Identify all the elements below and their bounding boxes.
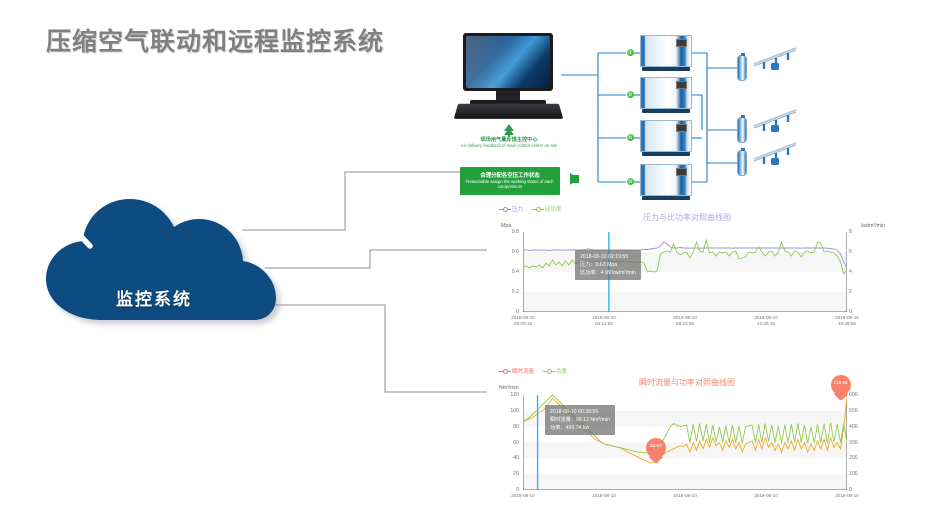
tooltip-time: 2018-08-10 02:19:55 xyxy=(580,253,636,261)
y-tick: 60 xyxy=(499,440,519,446)
chart2-value-marker[interactable]: 33.87 xyxy=(646,438,666,464)
air-tank xyxy=(737,117,747,143)
x-tick: 2018-08-10 xyxy=(579,493,629,499)
chart2-legend[interactable]: 瞬时流量功率 xyxy=(499,367,576,375)
y-tick: 0.4 xyxy=(499,269,519,275)
chart-flow-vs-power: 瞬时流量功率 瞬时流量与功率对照曲线图 Nm³/min 120100806040… xyxy=(487,365,887,525)
marker-value: 118.55 xyxy=(831,381,851,386)
compressor-foot xyxy=(642,109,690,113)
y-tick: 0.6 xyxy=(499,249,519,255)
x-tick: 2018-08-1004:11:55 xyxy=(579,315,629,326)
tooltip-line-2: 功率：493.74 kw xyxy=(550,424,610,432)
y-tick: 500 xyxy=(849,408,869,414)
compressor-unit xyxy=(640,35,692,71)
chart1-tooltip: 2018-08-10 02:19:55压力：0.63 Mpa比功率：4.99 k… xyxy=(575,250,641,280)
magnifier-chart-icon xyxy=(40,195,102,257)
x-tick: 2018-08-10 xyxy=(822,493,872,499)
y-tick: 80 xyxy=(499,424,519,430)
compressor-panel xyxy=(676,81,687,89)
compressor-unit xyxy=(640,77,692,113)
legend-marker-icon xyxy=(499,368,511,374)
air-tank xyxy=(737,55,747,81)
y-tick: 6 xyxy=(849,249,869,255)
chart1-plot-area[interactable] xyxy=(523,232,847,312)
legend-label: 瞬时流量 xyxy=(512,369,534,375)
tooltip-line-2: 比功率：4.99 kw/m³/min xyxy=(580,269,636,277)
compressor-foot xyxy=(642,152,690,156)
y-tick: 20 xyxy=(499,471,519,477)
chart2-tooltip: 2018-08-10 00:38:55瞬时流量：98.13 Nm³/min功率：… xyxy=(545,405,615,435)
y-tick: 100 xyxy=(499,408,519,414)
x-tick: 2018-08-10 xyxy=(660,493,710,499)
legend-label: 功率 xyxy=(556,369,567,375)
y-tick: 600 xyxy=(849,392,869,398)
chart2-y-axis-unit: Nm³/min xyxy=(499,385,519,391)
y-tick: 120 xyxy=(499,392,519,398)
y-tick: 40 xyxy=(499,455,519,461)
compressor-panel xyxy=(676,39,687,47)
air-tank xyxy=(737,150,747,176)
y-tick: 8 xyxy=(849,229,869,235)
y-tick: 0.8 xyxy=(499,229,519,235)
usage-point-group xyxy=(752,137,798,167)
node-indicator: 2 xyxy=(627,91,634,98)
usage-point-group xyxy=(752,42,798,72)
node-indicator: 3 xyxy=(627,134,634,141)
usage-point-group xyxy=(752,104,798,134)
cloud-label: 监控系统 xyxy=(40,285,268,310)
x-tick: 2018-08-10 xyxy=(741,493,791,499)
node-indicator: 4 xyxy=(627,178,634,185)
y-tick: 400 xyxy=(849,424,869,430)
x-tick: 2018-08-1000:00:15 xyxy=(498,315,548,326)
x-tick: 2018-08-1016:46:55 xyxy=(822,315,872,326)
x-tick: 2018-08-1012:35:15 xyxy=(741,315,791,326)
tooltip-time: 2018-08-10 00:38:55 xyxy=(550,408,610,416)
y-tick: 0.2 xyxy=(499,289,519,295)
legend-item-1[interactable]: 功率 xyxy=(543,367,567,375)
chart-pressure-vs-specific-power: 压力比功率 压力与比功率对照曲线图 Mpa kw/m³/min 0.80.60.… xyxy=(487,202,887,334)
legend-marker-icon xyxy=(543,368,555,374)
system-topology-diagram: 现场用气量反馈主控中心 Air delivery feedback of mai… xyxy=(430,20,945,205)
compressor-panel xyxy=(676,168,687,176)
legend-item-0[interactable]: 瞬时流量 xyxy=(499,367,534,375)
tooltip-line-1: 瞬时流量：98.13 Nm³/min xyxy=(550,416,610,424)
x-tick: 2018-08-1008:23:35 xyxy=(660,315,710,326)
compressor-panel xyxy=(676,124,687,132)
y-tick: 2 xyxy=(849,289,869,295)
compressor-unit xyxy=(640,120,692,156)
compressor-foot xyxy=(642,67,690,71)
y-tick: 4 xyxy=(849,269,869,275)
y-tick: 100 xyxy=(849,471,869,477)
chart2-value-marker[interactable]: 118.55 xyxy=(831,375,851,401)
x-tick: 2018-08-10 xyxy=(498,493,548,499)
y-tick: 200 xyxy=(849,455,869,461)
chart2-title: 瞬时流量与功率对照曲线图 xyxy=(487,377,887,388)
node-indicator: 1 xyxy=(627,49,634,56)
tooltip-line-1: 压力：0.63 Mpa xyxy=(580,261,636,269)
compressor-unit xyxy=(640,164,692,200)
marker-value: 33.87 xyxy=(646,444,666,449)
compressor-foot xyxy=(642,196,690,200)
chart1-title: 压力与比功率对照曲线图 xyxy=(487,212,887,223)
y-tick: 300 xyxy=(849,440,869,446)
monitoring-cloud[interactable]: 监控系统 xyxy=(40,195,290,335)
